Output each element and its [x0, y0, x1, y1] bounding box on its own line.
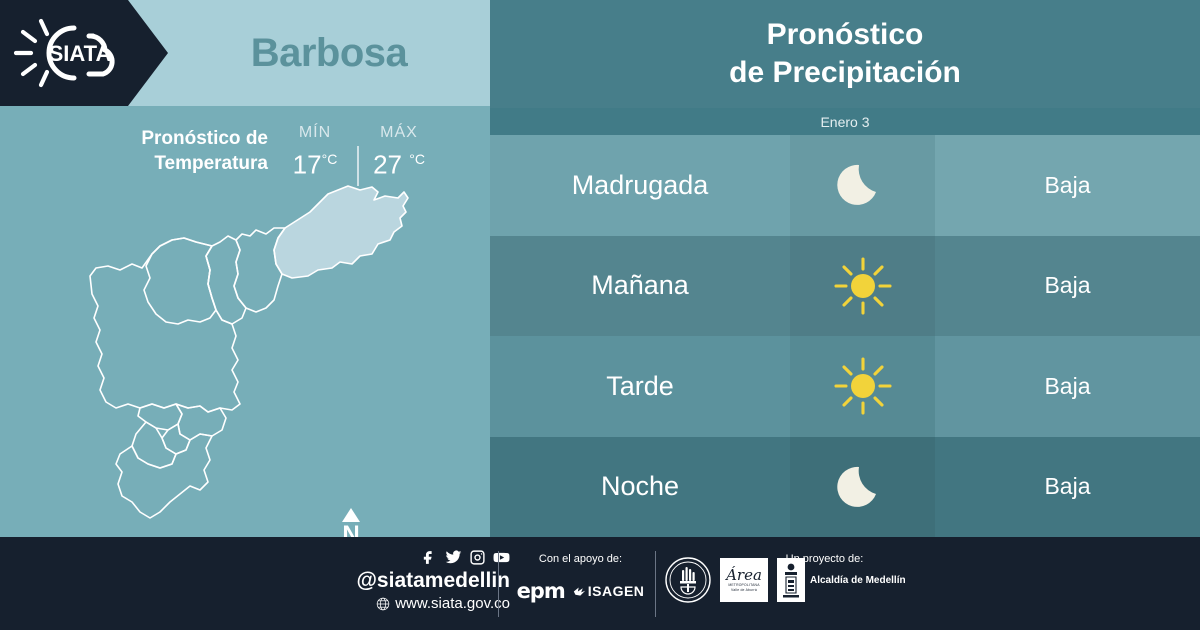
support-block: Con el apoyo de: epm ISAGEN	[508, 551, 653, 603]
city-name: Barbosa	[168, 0, 490, 106]
support-logos: epm ISAGEN	[508, 579, 653, 603]
social-icons	[290, 547, 510, 567]
epm-logo: epm	[517, 579, 565, 603]
forecast-row-tarde: Tarde	[490, 336, 1200, 437]
website-url: www.siata.gov.co	[395, 594, 510, 614]
facebook-icon[interactable]	[421, 549, 438, 566]
siata-logo-chevron: SIATA	[0, 0, 168, 106]
temperature-title-line1: Pronóstico de	[86, 126, 268, 151]
precipitation-title: Pronóstico de Precipitación	[729, 16, 961, 92]
website-line[interactable]: www.siata.gov.co	[290, 594, 510, 614]
sun-icon	[832, 355, 894, 417]
isagen-mark-icon	[573, 585, 586, 598]
siata-logo-text: SIATA	[49, 41, 112, 66]
precipitation-header: Pronóstico de Precipitación	[490, 0, 1200, 108]
temperature-title-line2: Temperatura	[86, 151, 268, 176]
aburra-valley-map: N	[60, 178, 460, 530]
forecast-date-strip: Enero 3	[490, 108, 1200, 135]
forecast-table: Madrugada Baja Mañana	[490, 135, 1200, 537]
moon-icon	[832, 456, 894, 518]
probability-label: Baja	[935, 236, 1200, 337]
temperature-max-label: MÁX	[366, 122, 432, 144]
project-block: Un proyecto de: Área	[665, 551, 915, 603]
moon-icon	[832, 154, 894, 216]
forecast-row-madrugada: Madrugada Baja	[490, 135, 1200, 236]
footer-divider-1	[498, 551, 499, 617]
globe-icon	[376, 597, 390, 611]
alcaldia-label: Alcaldía de Medellín	[810, 575, 906, 586]
period-label: Noche	[490, 437, 790, 538]
precipitation-title-line1: Pronóstico	[729, 16, 961, 54]
footer: @siatamedellin www.siata.gov.co Con el a…	[0, 537, 1200, 630]
sun-icon	[832, 255, 894, 317]
temperature-max-number: 27	[373, 150, 402, 180]
weather-icon-cell	[790, 437, 935, 538]
probability-label: Baja	[935, 437, 1200, 538]
temperature-min-value: 17°C	[282, 144, 348, 180]
temperature-min-unit: °C	[322, 151, 338, 167]
weather-icon-cell	[790, 336, 935, 437]
temperature-min: MÍN 17°C	[282, 122, 348, 180]
period-label: Tarde	[490, 336, 790, 437]
footer-divider-2	[655, 551, 656, 617]
infographic-root: SIATA Barbosa Pronóstico de Temperatura …	[0, 0, 1200, 630]
right-panel: Pronóstico de Precipitación Enero 3 Madr…	[490, 0, 1200, 537]
map-region-copacabana	[206, 236, 246, 324]
weather-icon-cell	[790, 236, 935, 337]
left-panel: SIATA Barbosa Pronóstico de Temperatura …	[0, 0, 490, 537]
map-region-medellin	[90, 238, 240, 412]
probability-label: Baja	[935, 336, 1200, 437]
temperature-max-value: 27 °C	[366, 144, 432, 180]
north-arrow-icon	[342, 508, 360, 522]
left-header-band: SIATA Barbosa	[0, 0, 490, 106]
instagram-icon[interactable]	[469, 549, 486, 566]
sun-cloud-icon: SIATA	[12, 14, 132, 92]
forecast-date: Enero 3	[820, 114, 869, 130]
social-handle[interactable]: @siatamedellin	[290, 568, 510, 594]
map-region-girardota	[234, 228, 285, 312]
udea-seal-icon	[665, 557, 711, 603]
map-region-caldas	[116, 434, 212, 518]
forecast-row-manana: Mañana	[490, 236, 1200, 337]
temperature-title: Pronóstico de Temperatura	[86, 126, 268, 176]
temperature-max: MÁX 27 °C	[366, 122, 432, 180]
precipitation-title-line2: de Precipitación	[729, 54, 961, 92]
probability-label: Baja	[935, 135, 1200, 236]
period-label: Madrugada	[490, 135, 790, 236]
period-label: Mañana	[490, 236, 790, 337]
forecast-row-noche: Noche Baja	[490, 437, 1200, 538]
map-svg	[60, 178, 460, 530]
temperature-min-label: MÍN	[282, 122, 348, 144]
temperature-max-unit: °C	[409, 151, 425, 167]
area-logo-script: Área	[726, 568, 762, 583]
map-region-barbosa	[274, 186, 408, 278]
area-metropolitana-logo: Área METROPOLITANA Valle de Aburrá	[720, 558, 768, 602]
weather-icon-cell	[790, 135, 935, 236]
temperature-min-number: 17	[293, 150, 322, 180]
isagen-logo: ISAGEN	[573, 583, 645, 599]
support-caption: Con el apoyo de:	[508, 551, 653, 567]
social-block: @siatamedellin www.siata.gov.co	[290, 547, 510, 614]
twitter-icon[interactable]	[445, 549, 462, 566]
isagen-label: ISAGEN	[588, 583, 645, 599]
area-logo-sub2: Valle de Aburrá	[731, 588, 757, 593]
